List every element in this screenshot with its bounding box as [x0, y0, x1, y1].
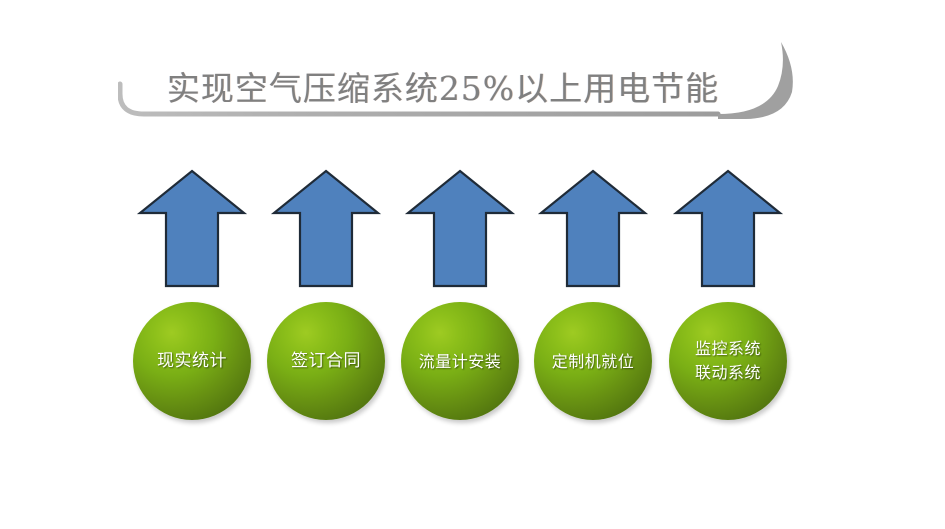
process-node-label: 监控系统 联动系统	[669, 302, 787, 420]
process-node-label: 流量计安装	[401, 302, 519, 420]
up-arrow-icon	[526, 168, 660, 290]
process-flow: 现实统计 签订合同 流量计安装	[0, 0, 945, 529]
up-arrow-icon	[125, 168, 259, 290]
up-arrow-icon	[393, 168, 527, 290]
process-node-label: 现实统计	[133, 302, 251, 420]
up-arrow-icon	[259, 168, 393, 290]
process-node-1[interactable]: 现实统计	[133, 302, 251, 420]
process-node-label: 签订合同	[267, 302, 385, 420]
process-step-5[interactable]: 监控系统 联动系统	[661, 168, 795, 420]
process-step-3[interactable]: 流量计安装	[393, 168, 527, 420]
up-arrow-icon	[661, 168, 795, 290]
process-step-1[interactable]: 现实统计	[125, 168, 259, 420]
process-node-label: 定制机就位	[534, 302, 652, 420]
process-node-5[interactable]: 监控系统 联动系统	[669, 302, 787, 420]
process-node-3[interactable]: 流量计安装	[401, 302, 519, 420]
process-node-2[interactable]: 签订合同	[267, 302, 385, 420]
slide-canvas: 实现空气压缩系统25%以上用电节能 现实统计 签订合同	[0, 0, 945, 529]
process-step-4[interactable]: 定制机就位	[526, 168, 660, 420]
process-node-4[interactable]: 定制机就位	[534, 302, 652, 420]
process-step-2[interactable]: 签订合同	[259, 168, 393, 420]
